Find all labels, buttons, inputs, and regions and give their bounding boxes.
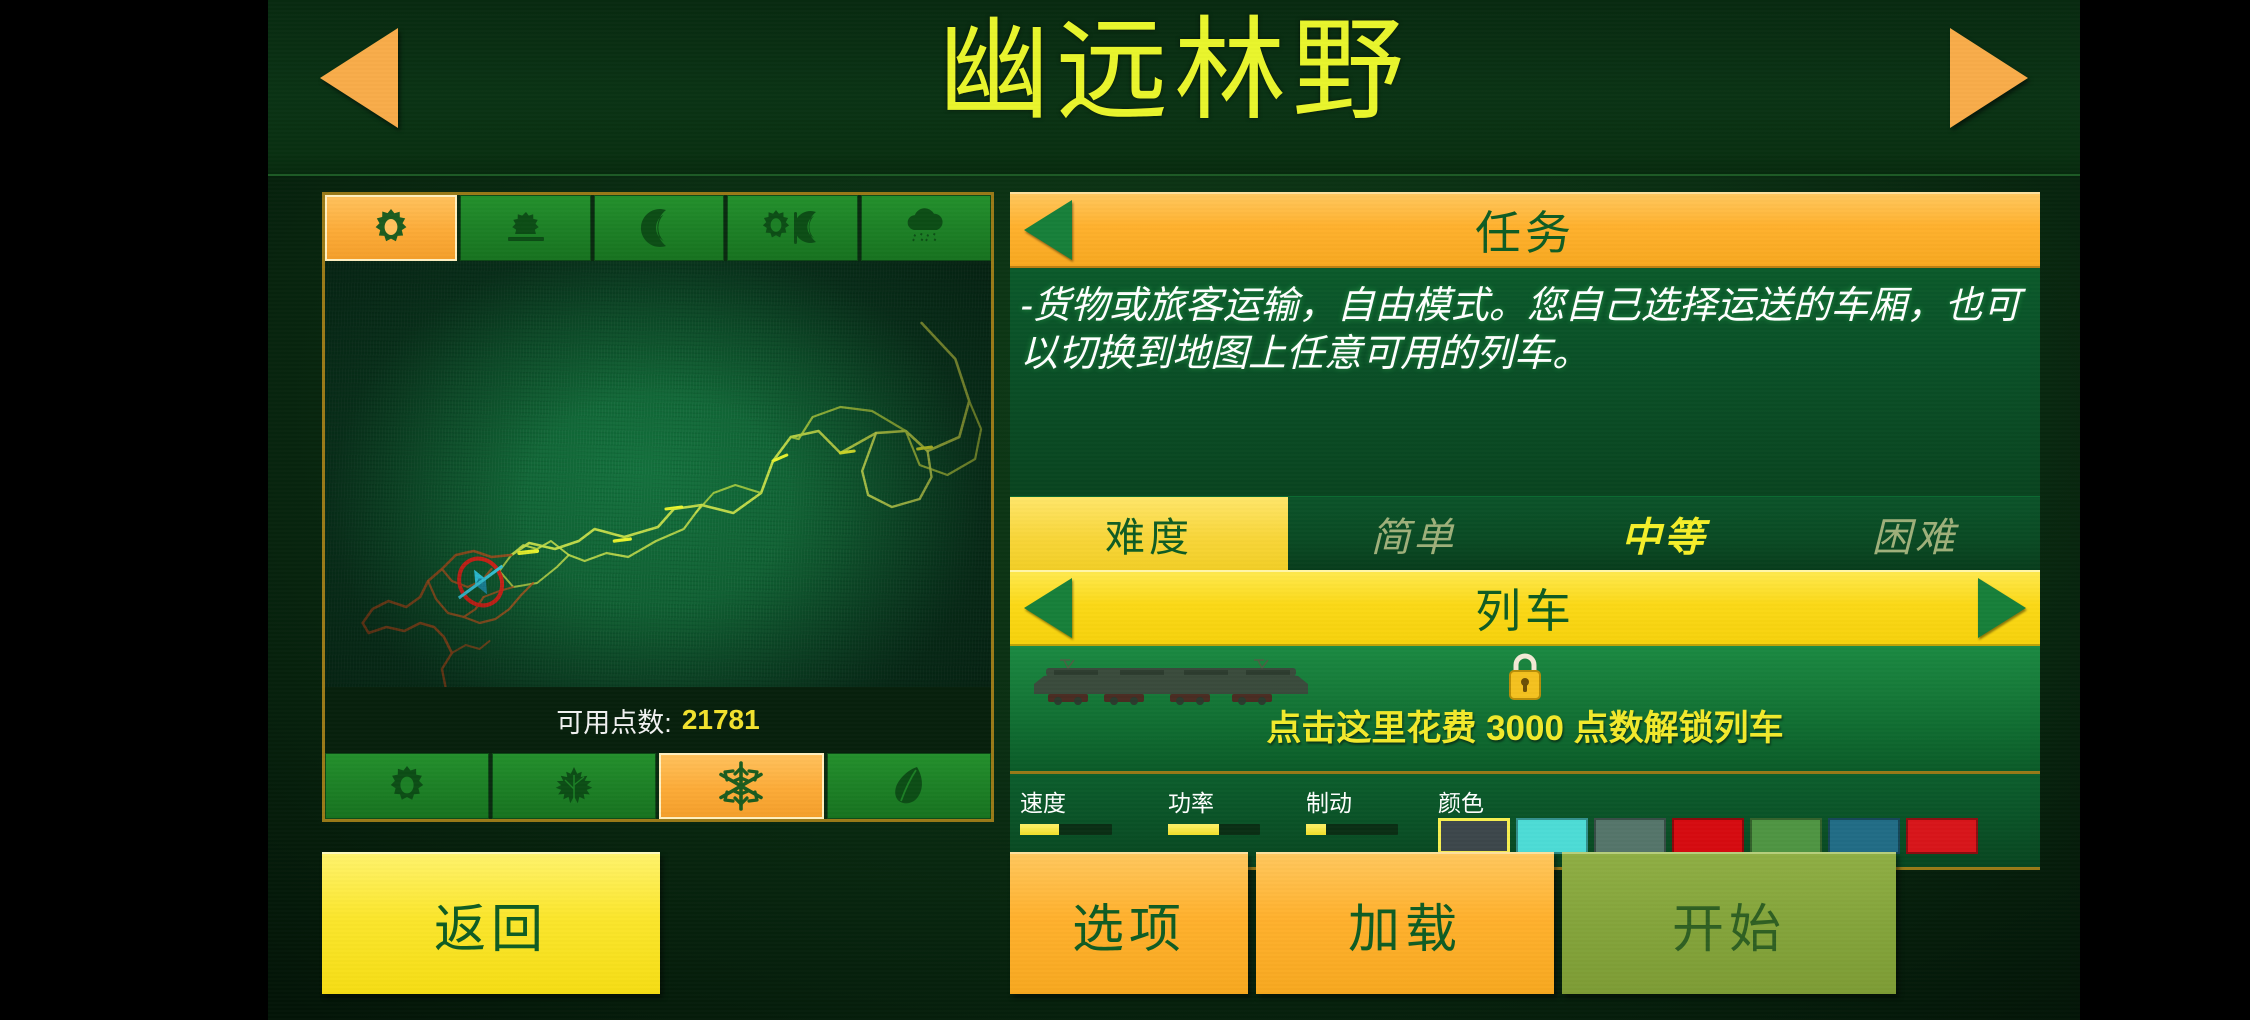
train-prev-arrow-icon[interactable] — [1024, 578, 1072, 638]
padlock-icon — [1503, 650, 1547, 702]
stat-brake: 制动 — [1306, 784, 1398, 835]
stat-brake-track — [1306, 824, 1398, 835]
daytime-option-day-night[interactable] — [727, 195, 857, 261]
day-night-icon — [756, 206, 828, 250]
load-button[interactable]: 加载 — [1256, 852, 1554, 994]
mission-prev-arrow-icon[interactable] — [1024, 200, 1072, 260]
stat-speed-track — [1020, 824, 1112, 835]
train-next-arrow-icon[interactable] — [1978, 578, 2026, 638]
color-swatch-cyan[interactable] — [1516, 818, 1588, 854]
rail-network-overlay — [325, 261, 991, 759]
color-label: 颜色 — [1438, 784, 1484, 818]
sunrise-icon — [503, 206, 549, 250]
daytime-option-sunrise[interactable] — [460, 195, 590, 261]
next-map-arrow-icon[interactable] — [1950, 28, 2028, 128]
maple-leaf-icon — [548, 763, 600, 809]
difficulty-selector: 难度 简单 中等 困难 — [1010, 496, 2040, 570]
stat-power-track — [1168, 824, 1260, 835]
color-label-group: 颜色 — [1438, 784, 1484, 818]
no-entry-marker-icon — [451, 551, 510, 613]
season-option-winter[interactable] — [659, 753, 825, 819]
game-screen: 幽远林野 — [0, 0, 2250, 1020]
daytime-option-snow-rain[interactable] — [861, 195, 991, 261]
unlock-train-button[interactable]: 点击这里花费 3000 点数解锁列车 — [1010, 700, 2040, 751]
mission-header-bar[interactable]: 任务 — [1010, 192, 2040, 268]
season-selector — [325, 753, 991, 819]
train-preview-panel[interactable]: 点击这里花费 3000 点数解锁列车 — [1010, 646, 2040, 774]
page-title: 幽远林野 — [268, 6, 2080, 136]
mission-and-train-panel: 任务 -货物或旅客运输，自由模式。您自己选择运送的车厢，也可以切换到地图上任意可… — [1010, 192, 2040, 822]
stat-speed-label: 速度 — [1020, 784, 1112, 818]
sun-icon — [369, 206, 413, 250]
season-option-spring[interactable] — [827, 753, 991, 819]
stat-brake-label: 制动 — [1306, 784, 1398, 818]
snowflake-icon — [715, 760, 767, 812]
leaf-icon — [889, 763, 929, 809]
color-swatch-bright-red[interactable] — [1906, 818, 1978, 854]
stat-brake-fill — [1306, 824, 1326, 835]
snow-cloud-icon — [900, 206, 952, 250]
sun-icon — [384, 763, 430, 809]
color-swatch-teal[interactable] — [1828, 818, 1900, 854]
stat-power-label: 功率 — [1168, 784, 1260, 818]
stat-power-fill — [1168, 824, 1219, 835]
points-value: 21781 — [682, 704, 760, 736]
game-viewport: 幽远林野 — [268, 0, 2080, 1020]
difficulty-option-medium[interactable]: 中等 — [1539, 497, 1790, 570]
mission-bar-title: 任务 — [1475, 197, 1575, 263]
color-swatch-dark-slate[interactable] — [1438, 818, 1510, 854]
color-swatch-gray-green[interactable] — [1594, 818, 1666, 854]
points-label: 可用点数: — [556, 701, 672, 740]
difficulty-option-easy[interactable]: 简单 — [1288, 497, 1539, 570]
season-option-autumn[interactable] — [492, 753, 656, 819]
stat-speed-fill — [1020, 824, 1059, 835]
season-option-summer[interactable] — [325, 753, 489, 819]
train-header-bar[interactable]: 列车 — [1010, 570, 2040, 646]
difficulty-label: 难度 — [1010, 497, 1288, 570]
mission-description: -货物或旅客运输，自由模式。您自己选择运送的车厢，也可以切换到地图上任意可用的列… — [1010, 268, 2040, 496]
stat-speed: 速度 — [1020, 784, 1112, 835]
mission-description-text: -货物或旅客运输，自由模式。您自己选择运送的车厢，也可以切换到地图上任意可用的列… — [1020, 282, 2022, 378]
back-button[interactable]: 返回 — [322, 852, 660, 994]
map-thumbnail[interactable] — [325, 261, 991, 759]
daytime-option-night[interactable] — [594, 195, 724, 261]
stat-power: 功率 — [1168, 784, 1260, 835]
train-bar-title: 列车 — [1475, 575, 1575, 641]
start-button[interactable]: 开始 — [1562, 852, 1896, 994]
color-swatch-green[interactable] — [1750, 818, 1822, 854]
daytime-option-sun[interactable] — [325, 195, 457, 261]
color-swatch-red[interactable] — [1672, 818, 1744, 854]
difficulty-option-hard[interactable]: 困难 — [1789, 497, 2040, 570]
moon-icon — [639, 206, 679, 250]
train-color-swatches — [1438, 818, 1978, 854]
available-points: 可用点数: 21781 — [325, 687, 991, 753]
daytime-selector — [325, 195, 991, 261]
options-button[interactable]: 选项 — [1010, 852, 1248, 994]
header-bar: 幽远林野 — [268, 0, 2080, 176]
map-preview-panel: 可用点数: 21781 — [322, 192, 994, 822]
